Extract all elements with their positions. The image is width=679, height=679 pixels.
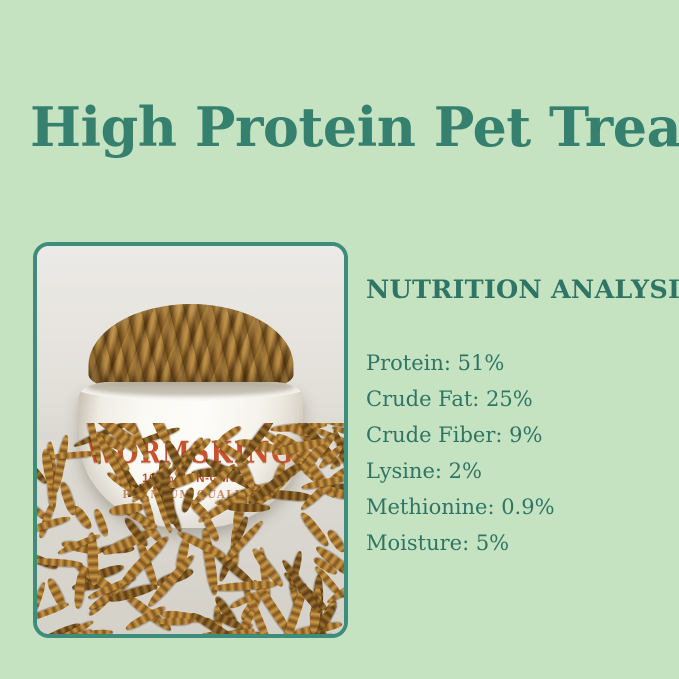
nutrition-item: Moisture: 5%: [366, 525, 666, 561]
nutrition-item: Crude Fiber: 9%: [366, 417, 666, 453]
nutrition-list: Protein: 51%Crude Fat: 25%Crude Fiber: 9…: [366, 345, 666, 561]
nutrition-item: Protein: 51%: [366, 345, 666, 381]
nutrition-item: Methionine: 0.9%: [366, 489, 666, 525]
product-infographic: High Protein Pet Treats WORMSKING 100% N…: [0, 0, 679, 679]
mealworm: [37, 581, 48, 627]
mealworm: [50, 450, 98, 460]
mealworm-pile: [88, 304, 293, 390]
product-photo: WORMSKING 100% NON-GMO PREMIUM QUALITY: [37, 246, 344, 634]
mealworm: [92, 508, 110, 538]
nutrition-item: Crude Fat: 25%: [366, 381, 666, 417]
page-title: High Protein Pet Treats: [30, 94, 670, 160]
mealworm: [58, 480, 78, 516]
scattered-mealworms: [37, 423, 344, 634]
mealworm: [37, 601, 70, 625]
mealworm: [226, 503, 270, 511]
nutrition-item: Lysine: 2%: [366, 453, 666, 489]
mealworm: [158, 617, 192, 625]
mealworm: [299, 510, 332, 549]
nutrition-panel: NUTRITION ANALYSIS Protein: 51%Crude Fat…: [366, 275, 666, 561]
nutrition-heading: NUTRITION ANALYSIS: [366, 275, 666, 305]
product-photo-frame: WORMSKING 100% NON-GMO PREMIUM QUALITY: [33, 242, 348, 638]
